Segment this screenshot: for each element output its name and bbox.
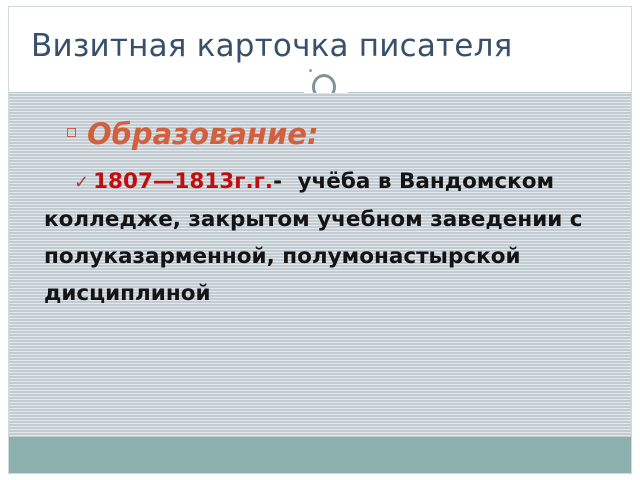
date-range-text: 1807—1813г.г. <box>93 169 273 194</box>
checkmark-bullet-icon: ✓ <box>74 172 89 193</box>
heading-text: Образование: <box>87 117 319 151</box>
square-bullet-icon <box>67 128 76 137</box>
body-bullet-item: ✓1807—1813г.г.- учёба в Вандомском колле… <box>44 163 619 312</box>
content-panel: Образование: ✓1807—1813г.г.- учёба в Ван… <box>9 93 631 437</box>
body-separator: - <box>273 169 282 194</box>
ring-dot-top-left-icon <box>309 69 312 72</box>
footer-bar <box>9 437 631 473</box>
heading-bullet-item: Образование: <box>67 117 319 151</box>
presentation-slide: Визитная карточка писателя Образование: … <box>0 0 640 480</box>
page-title: Визитная карточка писателя <box>31 27 621 65</box>
body-paragraph: ✓1807—1813г.г.- учёба в Вандомском колле… <box>44 163 619 312</box>
